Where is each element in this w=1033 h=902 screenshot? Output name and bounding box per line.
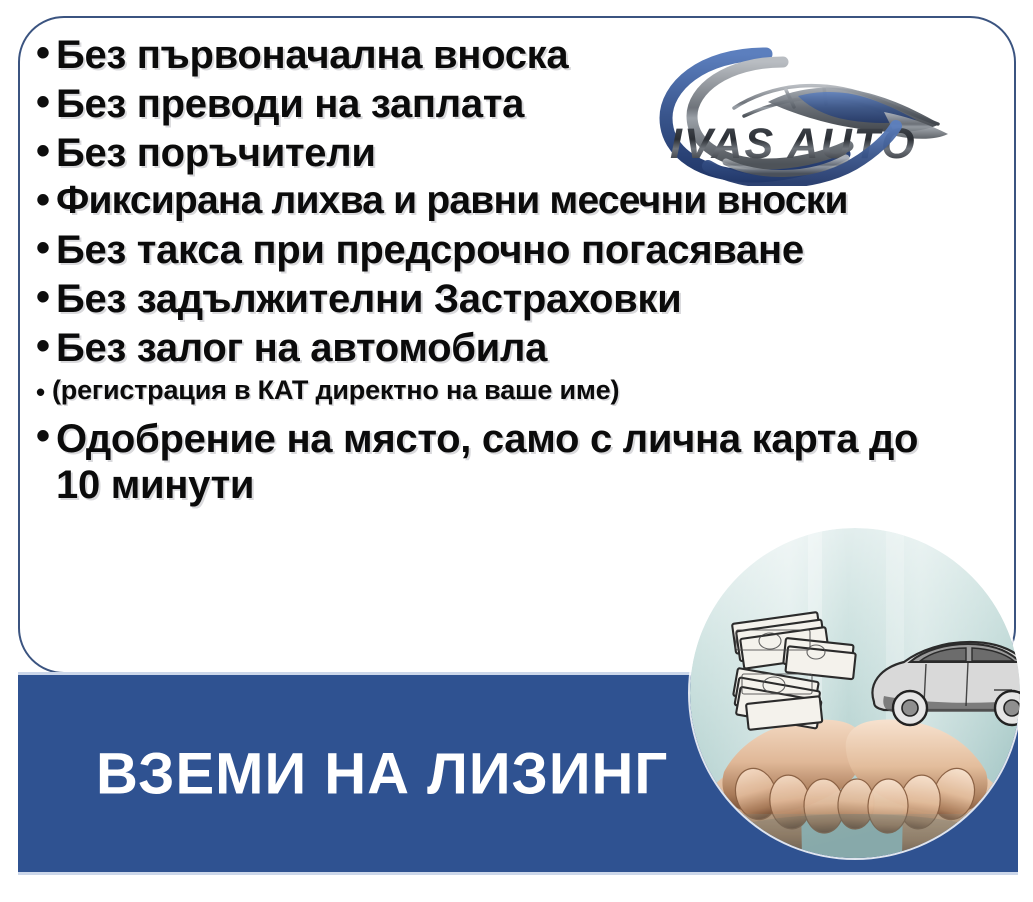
benefit-text: Без такса при предсрочно погасяване <box>56 229 1016 271</box>
bullet-point-icon: • <box>36 83 56 121</box>
list-item: • Без задължителни Застраховки <box>36 278 1016 320</box>
hands-money-car-photo <box>690 528 1020 858</box>
list-item: • Фиксирана лихва и равни месечни вноски <box>36 181 1016 222</box>
benefit-text: Без задължителни Застраховки <box>56 278 1016 320</box>
bullet-point-icon: • <box>36 278 56 316</box>
benefit-note-text: (регистрация в КАТ директно на ваше име) <box>52 376 1016 404</box>
bullet-point-icon: • <box>36 417 56 455</box>
bullet-point-icon: • <box>36 376 52 409</box>
benefit-text: Без залог на автомобила <box>56 327 1016 369</box>
bullet-point-icon: • <box>36 34 56 72</box>
list-item-note: • (регистрация в КАТ директно на ваше им… <box>36 376 1016 409</box>
ivas-auto-logo: IVAS AUTO <box>648 36 978 186</box>
list-item: • Одобрение на място, само с лична карта… <box>36 417 1016 508</box>
cta-text: ВЗЕМИ НА ЛИЗИНГ <box>96 740 668 807</box>
benefit-text: Одобрение на място, само с лична карта д… <box>56 417 971 508</box>
benefit-text: Фиксирана лихва и равни месечни вноски <box>56 181 1016 222</box>
bullet-point-icon: • <box>36 181 56 219</box>
bullet-point-icon: • <box>36 132 56 170</box>
leasing-advert-poster: • Без първоначална вноска • Без преводи … <box>0 0 1033 902</box>
bullet-point-icon: • <box>36 327 56 365</box>
bullet-point-icon: • <box>36 229 56 267</box>
list-item: • Без залог на автомобила <box>36 327 1016 369</box>
list-item: • Без такса при предсрочно погасяване <box>36 229 1016 271</box>
